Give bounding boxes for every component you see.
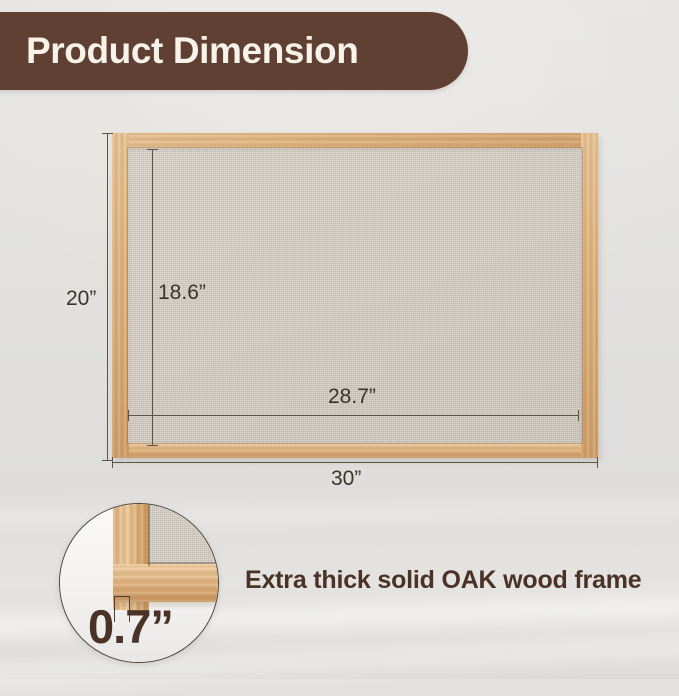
measure-tick-height-top bbox=[102, 133, 113, 134]
detail-frame-seam-vertical bbox=[148, 503, 150, 566]
measure-line-inner-width bbox=[128, 415, 578, 416]
dimension-label-overall-width: 30” bbox=[331, 467, 361, 491]
frame-top-rail bbox=[112, 133, 598, 149]
measure-tick-inner-width-left bbox=[128, 410, 129, 421]
dimension-label-inner-width: 28.7” bbox=[328, 385, 376, 409]
product-dimension-infographic: Product Dimension 20” 18.6” 28.7” 30” bbox=[0, 0, 679, 679]
measure-tick-inner-height-top bbox=[147, 149, 158, 150]
detail-linen-surface bbox=[149, 503, 219, 566]
frame-caption: Extra thick solid OAK wood frame bbox=[245, 566, 641, 595]
dimension-label-inner-height: 18.6” bbox=[158, 281, 206, 305]
detail-frame-seam-horizontal bbox=[148, 562, 219, 564]
measure-line-inner-height bbox=[152, 149, 153, 446]
frame-left-stile bbox=[112, 133, 129, 458]
measure-line-overall-height bbox=[107, 133, 108, 460]
measure-line-overall-width bbox=[112, 462, 598, 463]
frame-bottom-rail bbox=[112, 442, 598, 458]
dimension-label-overall-height: 20” bbox=[66, 287, 96, 311]
measure-tick-width-left bbox=[112, 457, 113, 468]
measure-tick-width-right bbox=[597, 457, 598, 468]
measure-tick-inner-height-bottom bbox=[147, 445, 158, 446]
page-title: Product Dimension bbox=[0, 30, 358, 72]
measure-tick-inner-width-right bbox=[578, 410, 579, 421]
header-banner: Product Dimension bbox=[0, 12, 468, 90]
detail-circle-icon: 0.7” bbox=[59, 503, 219, 663]
frame-right-stile bbox=[581, 133, 598, 458]
dimension-label-frame-thickness: 0.7” bbox=[88, 599, 173, 654]
